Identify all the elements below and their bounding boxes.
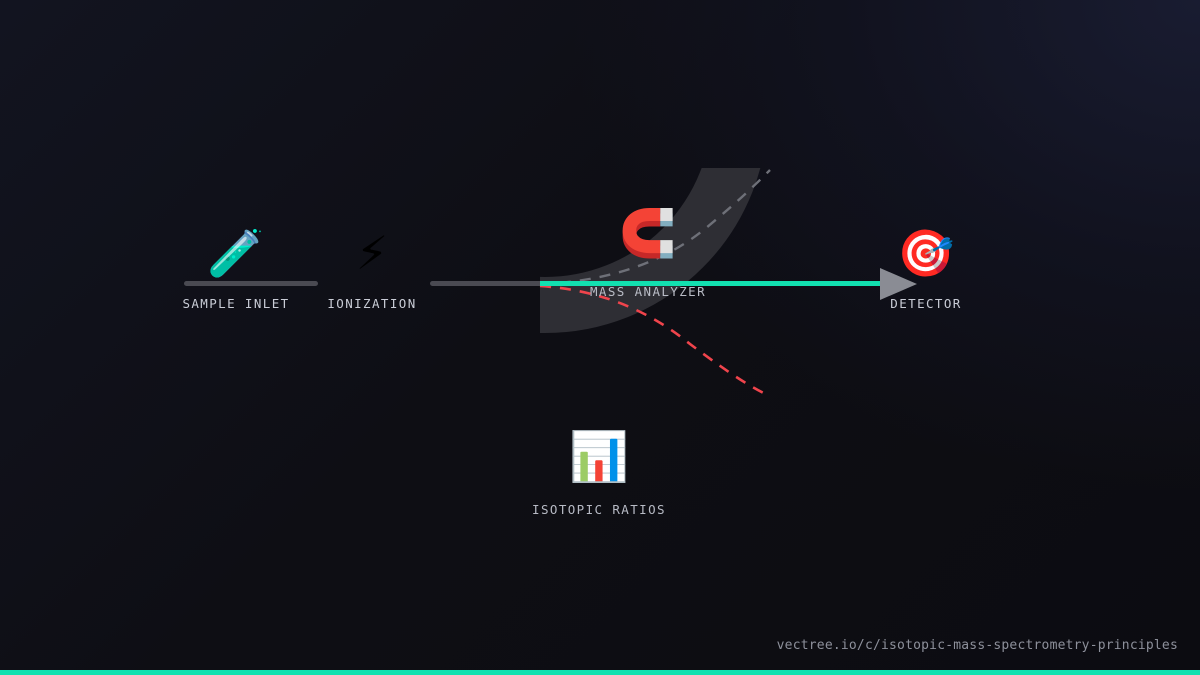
stage-label-detector: DETECTOR bbox=[846, 296, 1006, 311]
output-isotopic-ratios[interactable]: 📊 ISOTOPIC RATIOS bbox=[519, 428, 679, 517]
magnetic-field-arc bbox=[350, 0, 860, 390]
source-url: vectree.io/c/isotopic-mass-spectrometry-… bbox=[777, 638, 1178, 653]
bar-chart-icon: 📊 bbox=[519, 428, 679, 486]
lightning-bolt-icon: ⚡ bbox=[292, 224, 452, 282]
stage-mass-analyzer[interactable]: 🧲 MASS ANALYZER bbox=[568, 204, 728, 299]
target-icon: 🎯 bbox=[846, 224, 1006, 282]
stage-detector[interactable]: 🎯 DETECTOR bbox=[846, 224, 1006, 311]
accent-bar bbox=[0, 670, 1200, 675]
stage-label-ionization: IONIZATION bbox=[292, 296, 452, 311]
mass-spectrometer-diagram: 🧪 SAMPLE INLET ⚡ IONIZATION 🧲 MASS ANALY… bbox=[0, 0, 1200, 675]
stage-label-mass-analyzer: MASS ANALYZER bbox=[568, 284, 728, 299]
slide-canvas: 🧪 SAMPLE INLET ⚡ IONIZATION 🧲 MASS ANALY… bbox=[0, 0, 1200, 675]
stage-ionization[interactable]: ⚡ IONIZATION bbox=[292, 224, 452, 311]
magnet-icon: 🧲 bbox=[568, 204, 728, 262]
output-label-isotopic-ratios: ISOTOPIC RATIOS bbox=[519, 502, 679, 517]
diagram-vector-layer bbox=[0, 0, 1200, 675]
